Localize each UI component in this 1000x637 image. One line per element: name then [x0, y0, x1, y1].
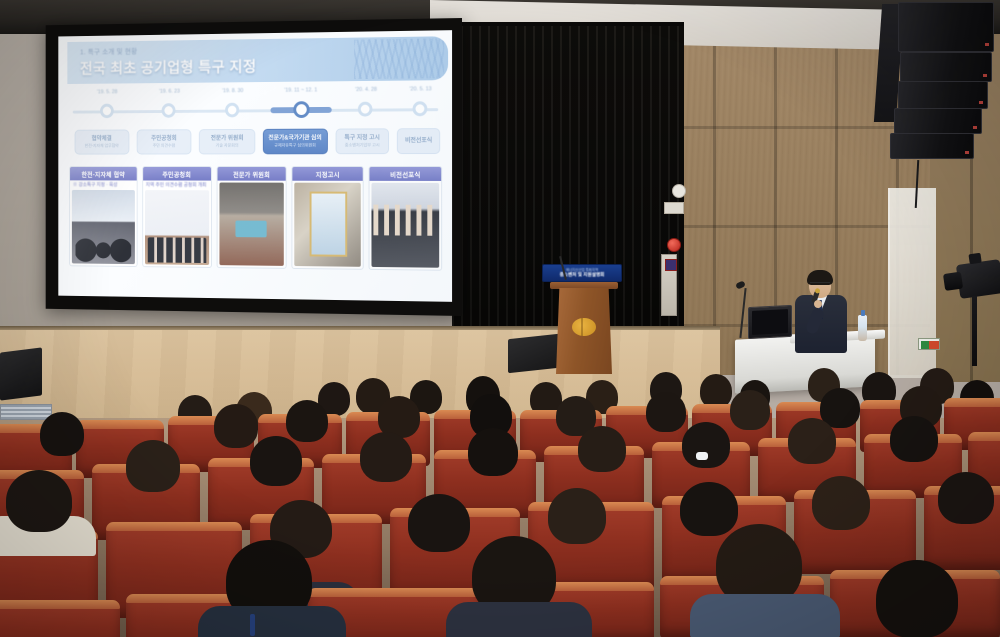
attendee-head [468, 428, 518, 476]
projection-screen: 1. 특구 소개 및 현황 전국 최초 공기업형 특구 지정 '19. 5. 2… [46, 18, 462, 316]
attendee-head [126, 440, 180, 492]
timeline-node-4 [358, 102, 373, 117]
emergency-exit-sign-icon [918, 338, 940, 350]
wall-clock-icon [672, 184, 686, 198]
phase-chip-1-subtitle: 주민 의견수렴 [153, 143, 175, 148]
laptop-monitor [748, 305, 792, 339]
attendee-shoulders [198, 606, 346, 637]
podium-emblem [572, 318, 596, 336]
phase-chip-1: 주민공청회 주민 의견수렴 [136, 129, 191, 154]
attendee-shoulders [446, 602, 592, 637]
phase-chip-4: 특구 지정 고시 중소벤처기업부 고시 [335, 128, 389, 154]
fire-alarm-bell-icon [667, 238, 681, 252]
presentation-slide: 1. 특구 소개 및 현황 전국 최초 공기업형 특구 지정 '19. 5. 2… [58, 30, 452, 302]
timeline-node-1 [162, 103, 176, 118]
attendee-head [680, 482, 738, 536]
phase-chip-0: 협약체결 한전-지자체 업무협약 [75, 130, 129, 155]
timeline-date-3: '19. 11 ~ 12. 1 [284, 87, 317, 93]
attendee-head [730, 390, 770, 430]
photo-card-2: 전문가 위원회 [216, 166, 287, 269]
podium-body [556, 288, 612, 374]
timeline-node-3-active [293, 101, 309, 118]
photo-card-1: 주민공청회 지역 주민 의견수렴 공청회 개최 [142, 166, 212, 268]
attendee-head [938, 472, 994, 524]
speaker-box-3 [898, 81, 988, 109]
photo-card-2-image [219, 183, 284, 266]
screen-surface: 1. 특구 소개 및 현황 전국 최초 공기업형 특구 지정 '19. 5. 2… [58, 30, 452, 302]
slide-title: 전국 최초 공기업형 특구 지정 [80, 56, 256, 78]
phase-chip-3-active: 전문가&국가기관 심의 규제자유특구 심의위원회 [263, 129, 328, 155]
photo-card-1-subtext: 지역 주민 의견수렴 공청회 개최 [143, 180, 211, 188]
speaker-box-5 [890, 133, 974, 159]
timeline-date-5: '20. 5. 13 [409, 86, 431, 92]
podium-sign-line2: 중소벤처 및 지원설명회 [560, 272, 605, 278]
attendee-head [360, 432, 412, 482]
phase-chip-3-subtitle: 규제자유특구 심의위원회 [274, 142, 316, 147]
phase-chip-1-title: 주민공청회 [151, 136, 177, 142]
camera-tripod [972, 296, 977, 366]
wall-vent [0, 404, 52, 420]
timeline-date-0: '19. 5. 28 [97, 89, 118, 95]
photo-card-0-subtext: ※ 강소특구 지정 · 육성 [70, 180, 136, 188]
timeline-date-2: '19. 8. 30 [222, 88, 243, 94]
attendee-head [876, 560, 958, 637]
speaker-box-1 [898, 2, 994, 52]
attendee-head [700, 374, 732, 408]
photo-card-4: 비전선포식 [369, 166, 442, 271]
glasses-icon [810, 282, 830, 286]
attendee-head [214, 404, 258, 448]
stage-monitor-speaker-left [0, 347, 42, 400]
attendee-shoulders [690, 594, 840, 637]
attendee-head [250, 436, 302, 486]
slide-photo-cards: 한전-지자체 협약 ※ 강소특구 지정 · 육성 주민공청회 지역 주민 의견수… [69, 166, 442, 271]
photo-card-1-image [145, 190, 209, 265]
attendee-head [646, 392, 686, 432]
attendee-head [578, 426, 626, 472]
wall-junction-box [664, 202, 684, 214]
video-camera [956, 259, 1000, 299]
presenter-hand [814, 300, 822, 308]
podium-sign: 에너지신산업 특화지역 중소벤처 및 지원설명회 [542, 264, 622, 282]
phase-chip-3-title: 전문가&국가기관 심의 [268, 136, 321, 142]
attendee-head [286, 400, 328, 442]
speaker-box-4 [894, 108, 982, 134]
slide-eyebrow: 1. 특구 소개 및 현황 [80, 47, 137, 57]
attendee-head [6, 470, 72, 532]
phase-chip-5-title: 비전선포식 [405, 138, 432, 144]
presenter-person [787, 272, 857, 350]
photo-card-2-caption: 전문가 위원회 [217, 167, 286, 181]
attendee-head [812, 476, 870, 530]
phase-chip-4-title: 특구 지정 고시 [344, 135, 379, 141]
lanyard [250, 614, 255, 636]
face-mask-icon [696, 452, 708, 460]
photo-card-3: 지정고시 [292, 166, 364, 270]
auditorium-seat [0, 600, 120, 637]
phase-chip-2-title: 전문가 위원회 [211, 136, 244, 142]
line-array-speaker-cluster [872, 0, 998, 172]
attendee-head [890, 416, 938, 462]
slide-title-bar: 1. 특구 소개 및 현황 전국 최초 공기업형 특구 지정 [67, 36, 448, 84]
photo-card-4-image [372, 183, 440, 268]
podium: 에너지신산업 특화지역 중소벤처 및 지원설명회 [556, 282, 612, 374]
phase-chip-5: 비전선포식 [397, 128, 440, 154]
wall-control-panel [661, 254, 677, 316]
water-bottle [858, 315, 867, 341]
photo-card-1-caption: 주민공청회 [143, 167, 211, 181]
attendee-head [40, 412, 84, 456]
timeline-node-2 [225, 103, 239, 118]
photo-card-3-caption: 지정고시 [293, 167, 363, 181]
auditorium-scene: 1. 특구 소개 및 현황 전국 최초 공기업형 특구 지정 '19. 5. 2… [0, 0, 1000, 637]
slide-phase-chips: 협약체결 한전-지자체 업무협약 주민공청회 주민 의견수렴 전문가 위원회 기… [67, 128, 444, 160]
attendee-head [408, 494, 470, 552]
podium-top-surface [550, 282, 618, 289]
photo-card-0-caption: 한전-지자체 협약 [70, 167, 136, 180]
timeline-date-4: '20. 4. 28 [355, 87, 377, 93]
phase-chip-2: 전문가 위원회 기술 자문회의 [199, 129, 255, 154]
speaker-box-2 [900, 52, 992, 82]
phase-chip-0-title: 협약체결 [92, 136, 112, 142]
timeline-date-1: '19. 6. 23 [159, 89, 180, 95]
timeline-track [73, 108, 438, 113]
photo-card-0-image [72, 190, 135, 264]
photo-card-0: 한전-지자체 협약 ※ 강소특구 지정 · 육성 [69, 166, 137, 267]
timeline-node-5 [413, 101, 428, 116]
slide-timeline: '19. 5. 28 '19. 6. 23 '19. 8. 30 '19. 11… [67, 86, 444, 128]
phase-chip-4-subtitle: 중소벤처기업부 고시 [345, 142, 380, 147]
attendee-head [788, 418, 836, 464]
phase-chip-2-subtitle: 기술 자문회의 [216, 143, 239, 148]
photo-card-4-caption: 비전선포식 [370, 167, 441, 181]
attendee-head [548, 488, 606, 544]
timeline-node-0 [100, 104, 114, 118]
attendee-head [682, 422, 730, 468]
photo-card-3-image [295, 183, 361, 267]
phase-chip-0-subtitle: 한전-지자체 업무협약 [85, 143, 119, 148]
